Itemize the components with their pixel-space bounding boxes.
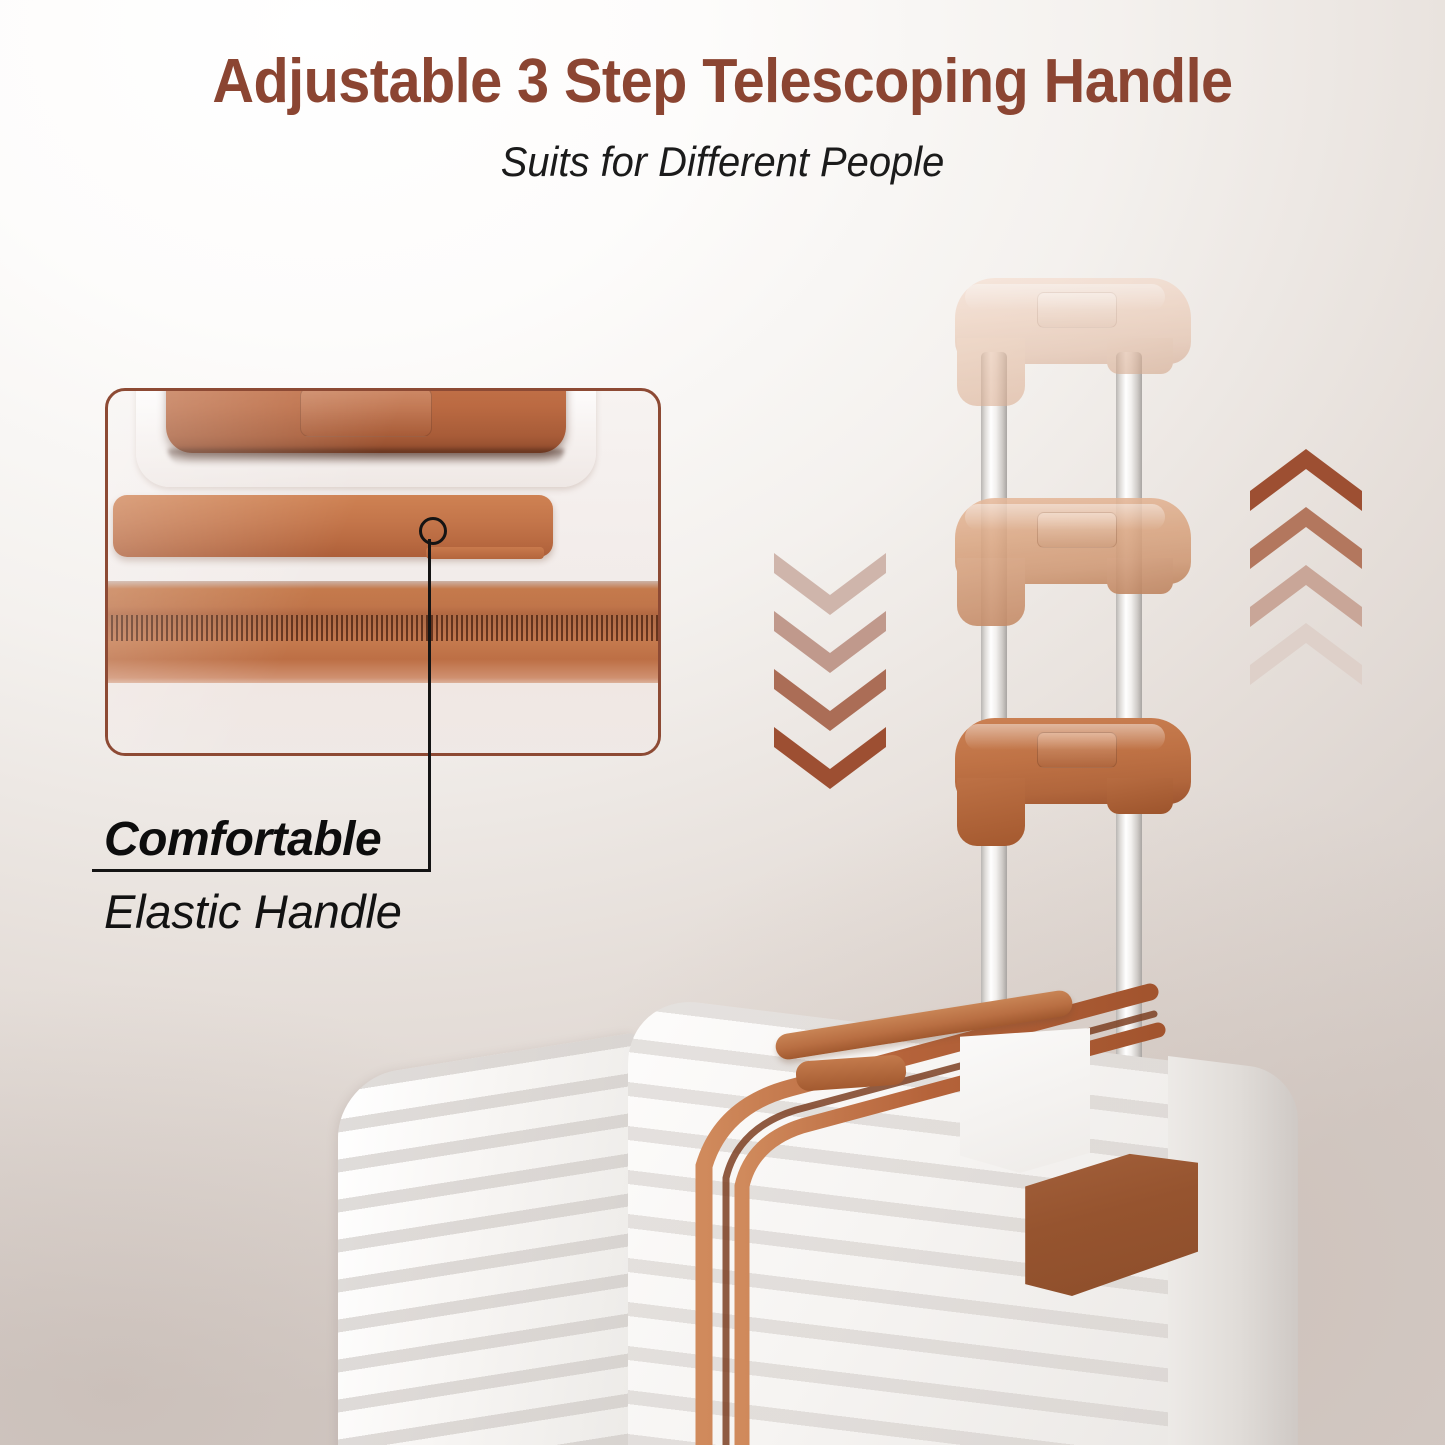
handle-leg-right [1107,338,1173,374]
handle-recess-notch [960,1028,1090,1173]
zipper-tape-upper [105,581,661,617]
leader-line-horizontal-icon [92,869,431,872]
top-handle-bar [166,388,566,453]
page-title: Adjustable 3 Step Telescoping Handle [51,46,1395,117]
handle-gloss [965,724,1165,750]
page-subtitle: Suits for Different People [36,138,1409,186]
closeup-scene [108,391,658,753]
circle-marker-icon [419,517,447,545]
zipper-teeth [105,615,661,643]
handle-leg-left [957,338,1025,406]
handle-bar-shadow [168,449,564,465]
product-feature-graphic: Adjustable 3 Step Telescoping Handle Sui… [0,0,1445,1445]
handle-stage-3[interactable] [955,278,1191,406]
handle-stage-2[interactable] [955,498,1191,626]
strap-tab [426,547,544,559]
handle-gloss [965,504,1165,530]
handle-closeup-panel [105,388,661,756]
callout-label-primary: Comfortable [104,812,381,867]
handle-leg-right [1107,558,1173,594]
handle-leg-left [957,558,1025,626]
callout-label-secondary: Elastic Handle [104,884,402,939]
handle-leg-left [957,778,1025,846]
handle-gloss [965,284,1165,310]
suitcase-side-panel [338,1032,638,1445]
zipper-tape-lower [105,641,661,687]
shell-lower-area [105,683,661,756]
leader-line-vertical-icon [428,539,431,872]
handle-stage-1[interactable] [955,718,1191,846]
handle-leg-right [1107,778,1173,814]
